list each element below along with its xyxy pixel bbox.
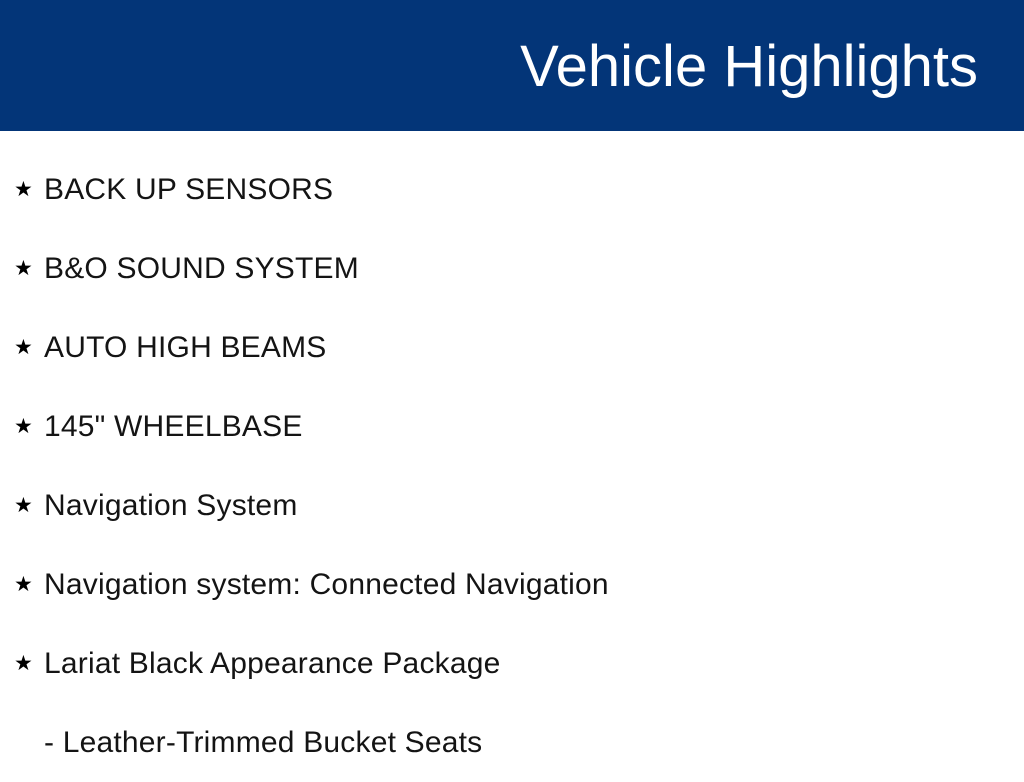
list-item: ★ 145" WHEELBASE: [0, 387, 1024, 466]
star-bullet-icon: ★: [14, 229, 36, 308]
list-item-label: B&O SOUND SYSTEM: [44, 229, 359, 308]
list-item-label: Navigation system: Connected Navigation: [44, 545, 609, 624]
list-sub-item: - Leather-Trimmed Bucket Seats: [0, 703, 1024, 782]
list-sub-item-label: - Leather-Trimmed Bucket Seats: [44, 703, 482, 782]
list-item-label: Lariat Black Appearance Package: [44, 624, 501, 703]
list-item-label: 145" WHEELBASE: [44, 387, 303, 466]
slide-header-band: Vehicle Highlights: [0, 0, 1024, 131]
page-title: Vehicle Highlights: [520, 37, 978, 98]
list-item-label: AUTO HIGH BEAMS: [44, 308, 327, 387]
star-bullet-icon: ★: [14, 624, 36, 703]
list-item: ★ BACK UP SENSORS: [0, 150, 1024, 229]
list-item-label: Navigation System: [44, 466, 298, 545]
list-item: ★ B&O SOUND SYSTEM: [0, 229, 1024, 308]
star-bullet-icon: ★: [14, 466, 36, 545]
vehicle-highlights-list: ★ BACK UP SENSORS ★ B&O SOUND SYSTEM ★ A…: [0, 131, 1024, 768]
vehicle-highlights-slide: Vehicle Highlights ★ BACK UP SENSORS ★ B…: [0, 0, 1024, 768]
star-bullet-icon: ★: [14, 308, 36, 387]
sub-item-bullet-icon: [14, 703, 36, 782]
list-item: ★ AUTO HIGH BEAMS: [0, 308, 1024, 387]
star-bullet-icon: ★: [14, 150, 36, 229]
list-item-label: BACK UP SENSORS: [44, 150, 333, 229]
star-bullet-icon: ★: [14, 387, 36, 466]
star-bullet-icon: ★: [14, 545, 36, 624]
list-item: ★ Lariat Black Appearance Package: [0, 624, 1024, 703]
list-item: ★ Navigation system: Connected Navigatio…: [0, 545, 1024, 624]
list-item: ★ Navigation System: [0, 466, 1024, 545]
